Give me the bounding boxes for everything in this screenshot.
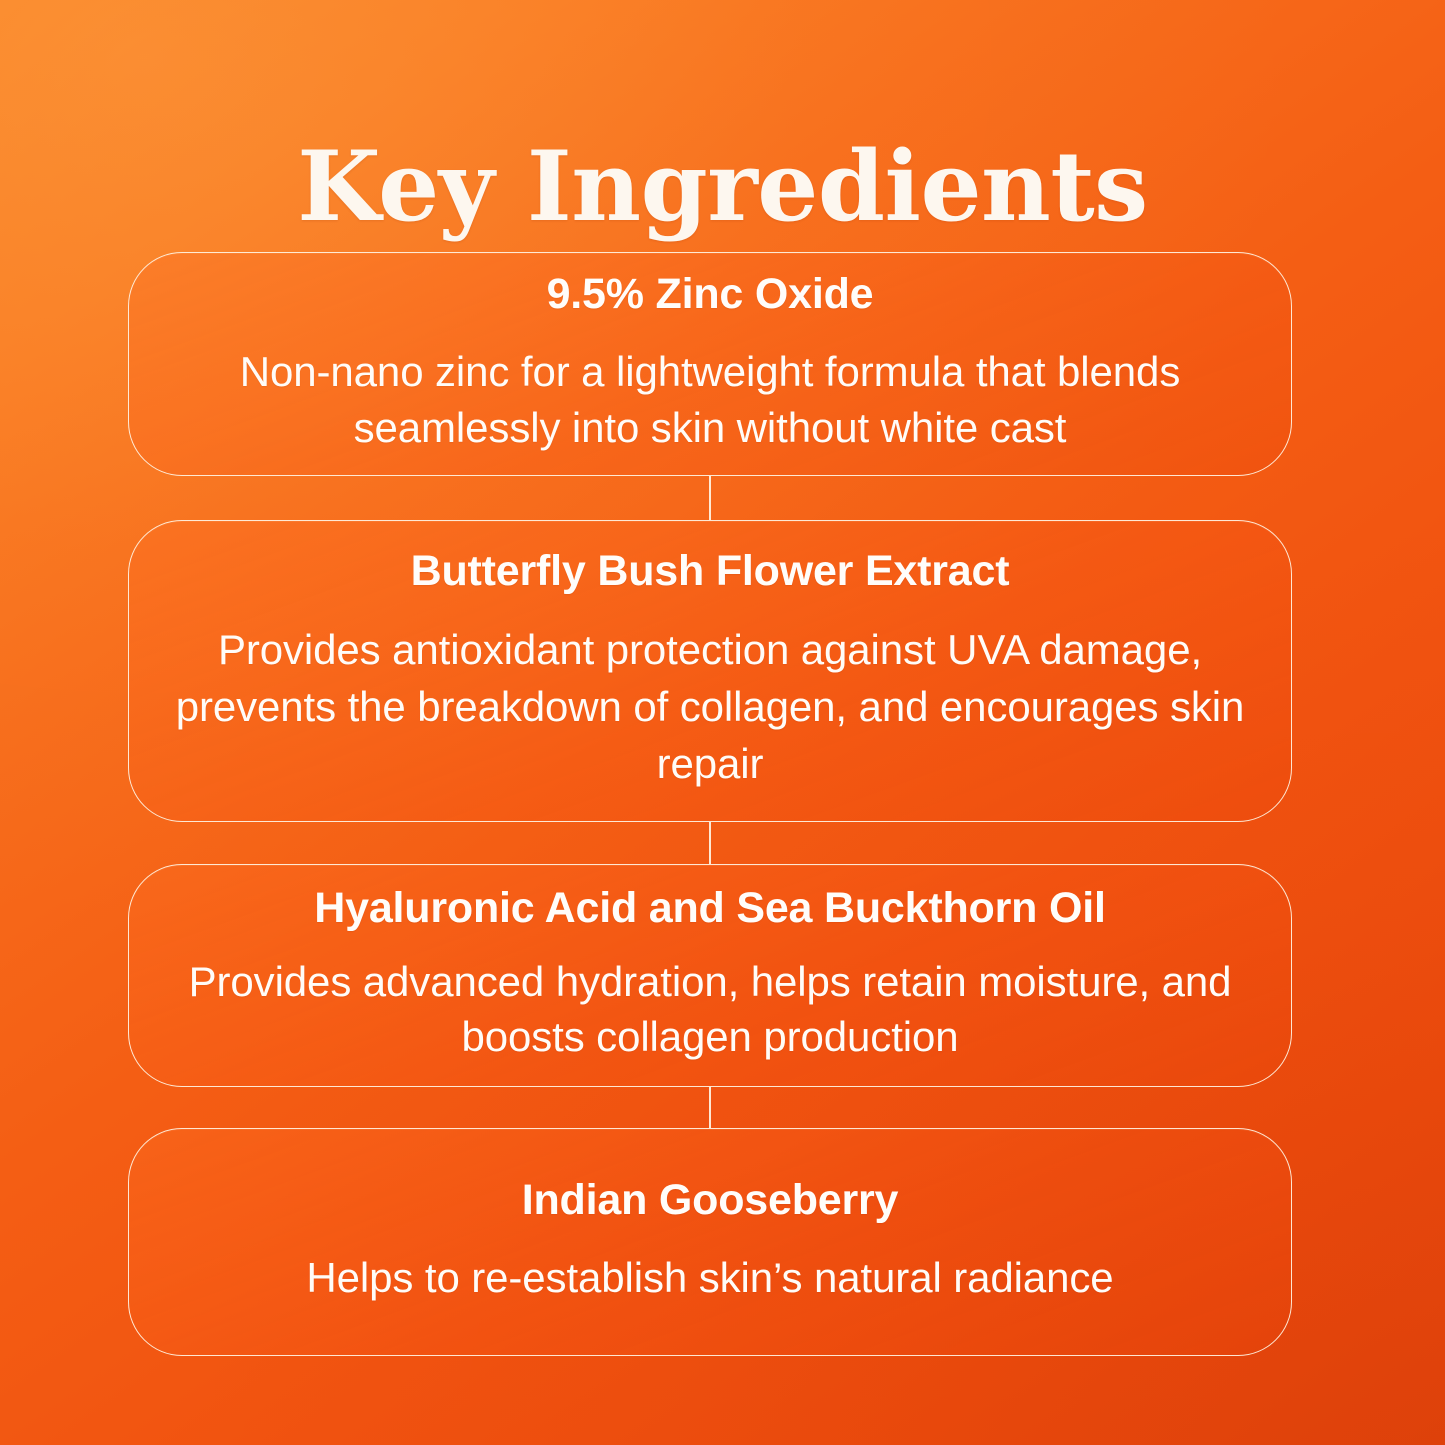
ingredient-card: Indian Gooseberry Helps to re-establish … — [128, 1128, 1292, 1356]
ingredient-description: Provides antioxidant protection against … — [175, 621, 1245, 792]
ingredient-title: Hyaluronic Acid and Sea Buckthorn Oil — [314, 887, 1105, 930]
ingredient-title: 9.5% Zinc Oxide — [547, 273, 874, 316]
card-connector — [128, 822, 1292, 864]
ingredient-card-list: 9.5% Zinc Oxide Non-nano zinc for a ligh… — [128, 252, 1292, 1356]
ingredient-card: 9.5% Zinc Oxide Non-nano zinc for a ligh… — [128, 252, 1292, 476]
connector-line — [709, 1087, 711, 1128]
ingredient-description: Non-nano zinc for a lightweight formula … — [175, 344, 1245, 455]
ingredient-description: Helps to re-establish skin’s natural rad… — [306, 1250, 1113, 1305]
card-connector — [128, 476, 1292, 520]
ingredient-card: Hyaluronic Acid and Sea Buckthorn Oil Pr… — [128, 864, 1292, 1087]
ingredient-card: Butterfly Bush Flower Extract Provides a… — [128, 520, 1292, 822]
connector-line — [709, 476, 711, 520]
key-ingredients-poster: Key Ingredients 9.5% Zinc Oxide Non-nano… — [0, 0, 1445, 1445]
page-title: Key Ingredients — [0, 136, 1445, 238]
card-connector — [128, 1087, 1292, 1128]
ingredient-title: Indian Gooseberry — [522, 1179, 899, 1222]
ingredient-title: Butterfly Bush Flower Extract — [411, 550, 1010, 593]
connector-line — [709, 822, 711, 864]
ingredient-description: Provides advanced hydration, helps retai… — [175, 954, 1245, 1065]
